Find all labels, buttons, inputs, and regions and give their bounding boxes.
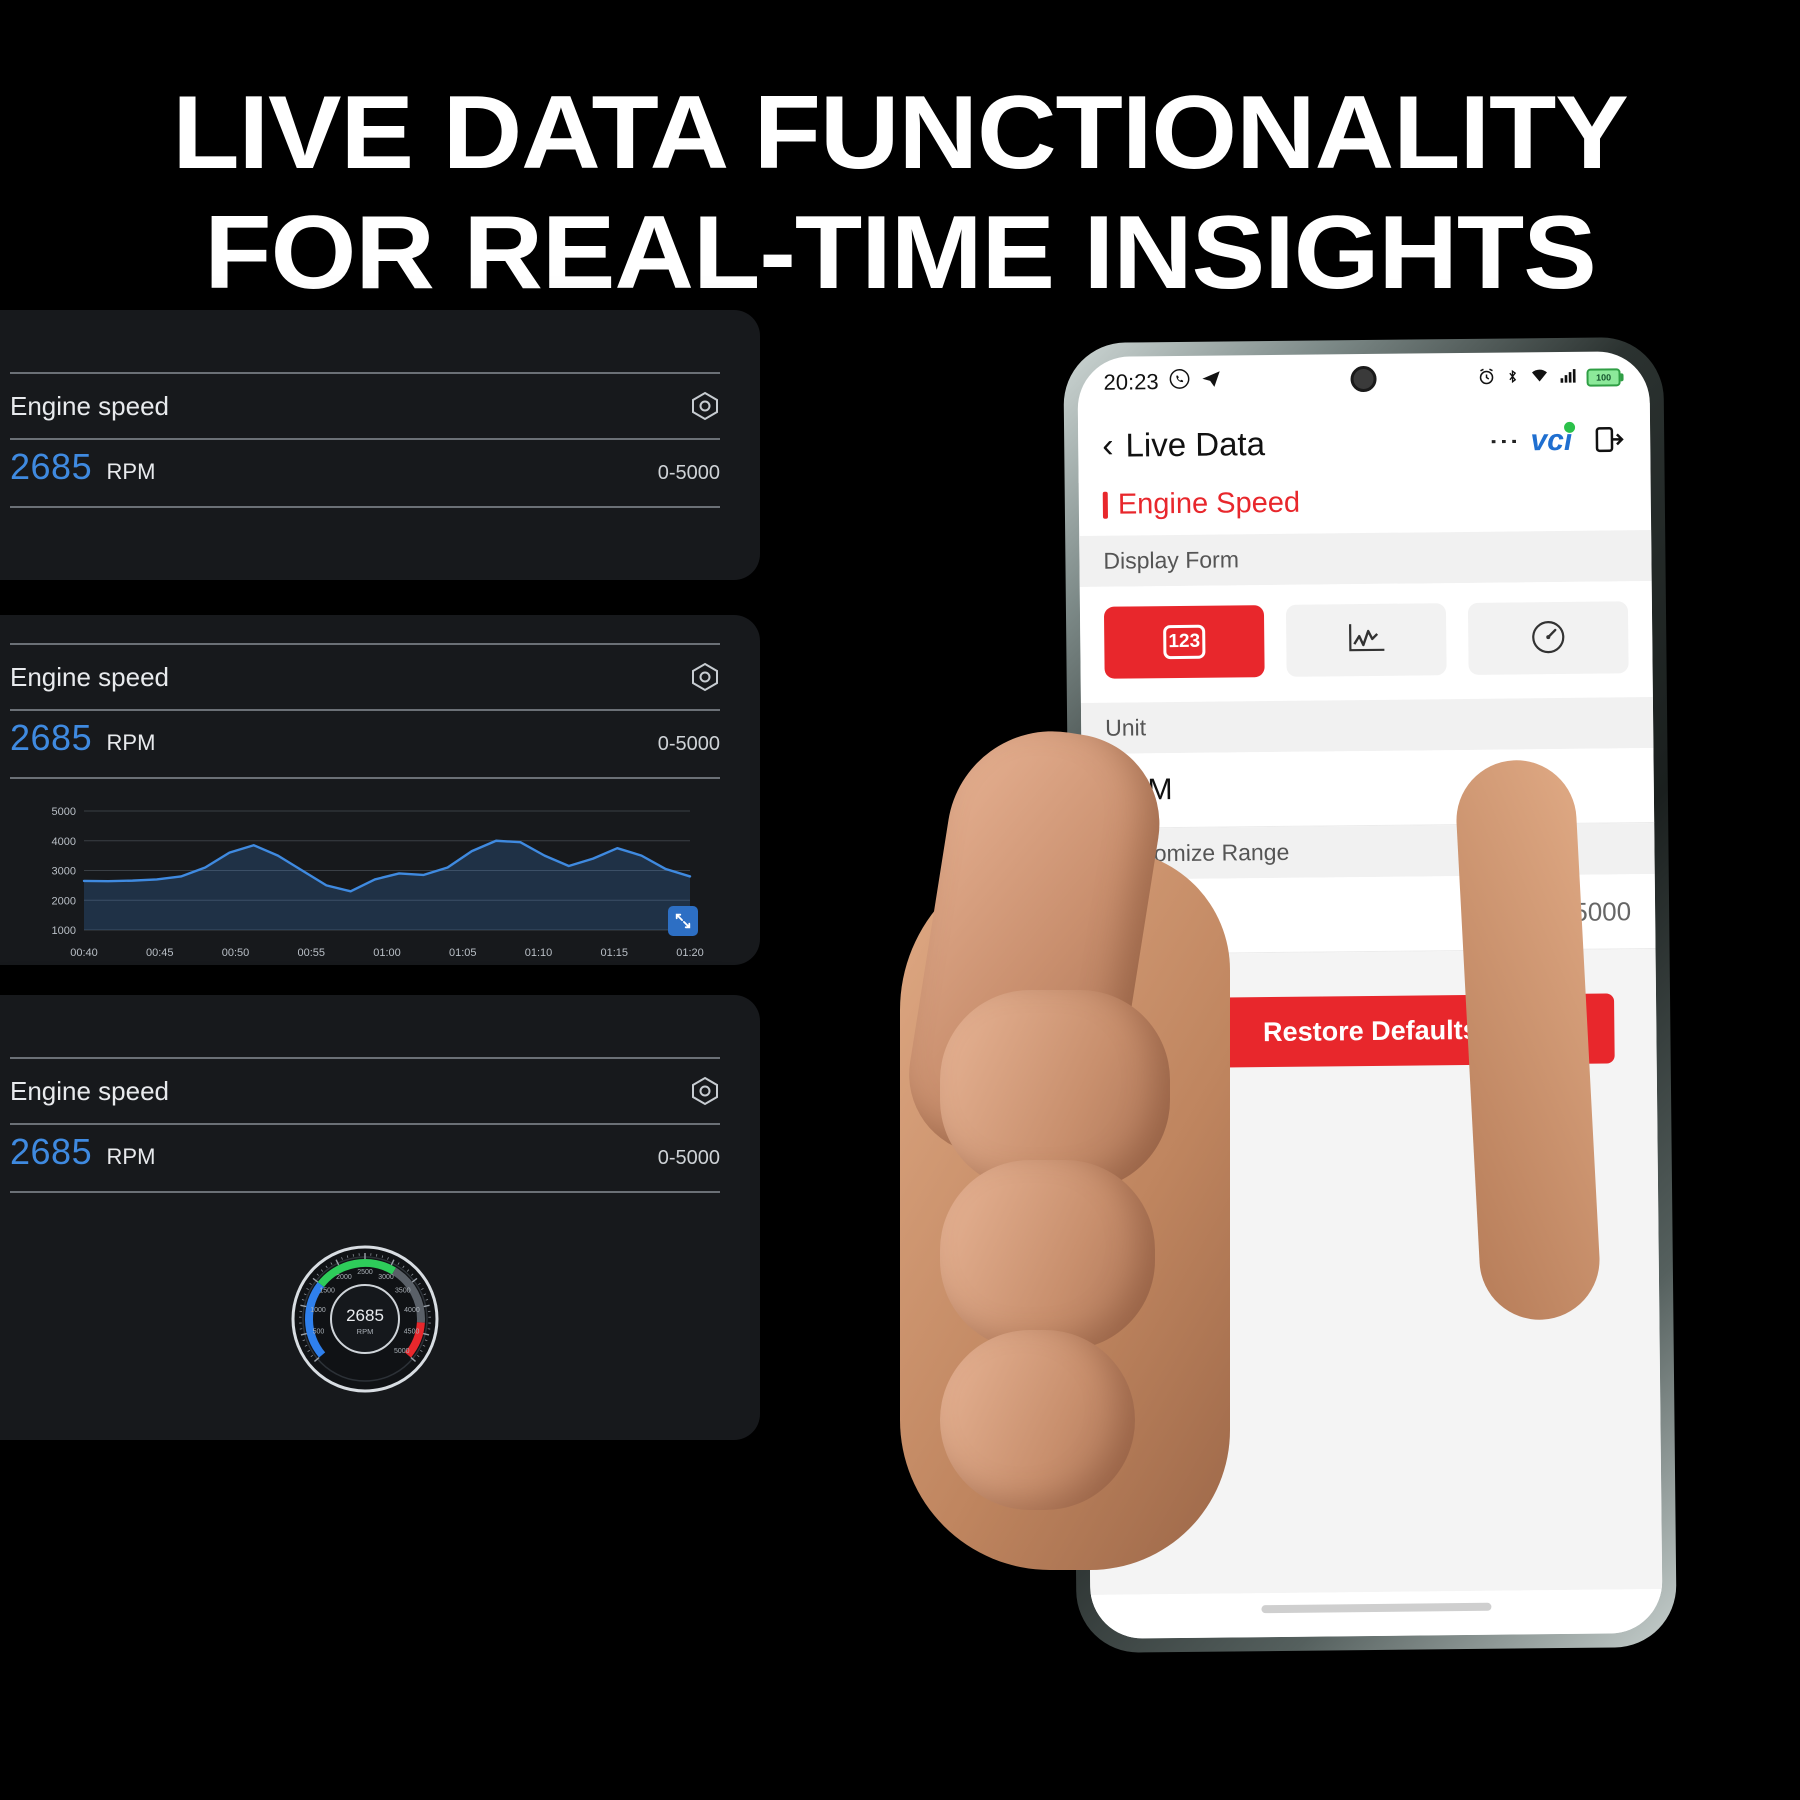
card-numeric-value-row: 2685 RPM 0-5000 [10, 440, 720, 508]
card-graph-unit: RPM [107, 730, 156, 755]
home-indicator [1090, 1589, 1662, 1639]
section-title: Engine Speed [1079, 477, 1652, 536]
svg-text:01:20: 01:20 [676, 947, 704, 959]
alarm-icon [1477, 366, 1495, 392]
gauge-svg: 5001000150020002500300035004000450050002… [265, 1219, 465, 1419]
svg-text:3000: 3000 [52, 866, 76, 878]
line-chart-svg: 5000400030002000100000:4000:4500:5000:55… [10, 801, 710, 966]
wifi-icon [1529, 365, 1549, 391]
svg-text:00:40: 00:40 [70, 947, 98, 959]
card-graph-title-row: Engine speed [10, 643, 720, 711]
card-graph: Engine speed 2685 RPM 0-5000 50004000300… [0, 615, 760, 965]
card-graph-label: Engine speed [10, 662, 169, 693]
live-line-chart[interactable]: 5000400030002000100000:4000:4500:5000:55… [10, 801, 720, 966]
card-gauge-label: Engine speed [10, 1076, 169, 1107]
card-gauge: Engine speed 2685 RPM 0-5000 50010001500… [0, 995, 760, 1440]
svg-text:5000: 5000 [52, 806, 76, 818]
gauge-widget[interactable]: 5001000150020002500300035004000450050002… [10, 1219, 720, 1419]
card-gauge-unit: RPM [107, 1144, 156, 1169]
card-numeric-label: Engine speed [10, 391, 169, 422]
svg-text:4500: 4500 [404, 1329, 420, 1336]
current-range-row[interactable]: Current 5000 [1083, 874, 1656, 955]
battery-level: 100 [1596, 372, 1611, 382]
exit-icon[interactable] [1592, 424, 1626, 456]
current-label: Current [1107, 899, 1207, 934]
telegram-icon [1200, 368, 1222, 396]
card-gauge-range: 0-5000 [658, 1147, 720, 1170]
target-icon[interactable] [690, 1076, 720, 1106]
phone-mockup: 20:23 [1063, 337, 1677, 1653]
svg-text:01:05: 01:05 [449, 947, 477, 959]
section-title-text: Engine Speed [1118, 487, 1301, 522]
whatsapp-icon [1168, 368, 1190, 396]
unit-header: Unit [1081, 697, 1654, 754]
display-form-gauge-button[interactable] [1468, 601, 1629, 675]
display-form-numeric-button[interactable]: 123 [1104, 605, 1265, 679]
card-gauge-value: 2685 [10, 1131, 92, 1172]
page-title: LIVE DATA FUNCTIONALITY FOR REAL-TIME IN… [0, 80, 1800, 306]
card-graph-value: 2685 [10, 717, 92, 758]
card-graph-value-row: 2685 RPM 0-5000 [10, 711, 720, 779]
promo-stage: LIVE DATA FUNCTIONALITY FOR REAL-TIME IN… [0, 0, 1800, 1800]
restore-defaults-button[interactable]: Restore Defaults [1126, 993, 1615, 1068]
target-icon[interactable] [690, 662, 720, 692]
battery-icon: 100 [1586, 368, 1623, 386]
numeric-123-icon: 123 [1163, 625, 1205, 659]
svg-text:3500: 3500 [395, 1287, 411, 1294]
svg-text:500: 500 [313, 1329, 325, 1336]
svg-text:2685: 2685 [346, 1306, 384, 1325]
expand-icon[interactable] [668, 906, 698, 936]
line-chart-icon [1344, 619, 1388, 660]
phone-screen: 20:23 [1077, 351, 1662, 1639]
svg-text:00:50: 00:50 [222, 947, 250, 959]
customize-range-header: Customize Range [1082, 823, 1655, 880]
status-time: 20:23 [1103, 369, 1158, 396]
target-icon[interactable] [690, 391, 720, 421]
status-bar: 20:23 [1077, 351, 1650, 409]
headline-line-1: LIVE DATA FUNCTIONALITY [0, 80, 1800, 186]
svg-text:1500: 1500 [319, 1287, 335, 1294]
camera-punch-hole [1350, 366, 1376, 392]
vci-label[interactable]: vci [1530, 424, 1572, 458]
svg-text:5000: 5000 [394, 1348, 410, 1355]
card-numeric-unit: RPM [107, 459, 156, 484]
card-numeric: Engine speed 2685 RPM 0-5000 [0, 310, 760, 580]
svg-text:RPM: RPM [357, 1327, 374, 1336]
svg-text:2500: 2500 [357, 1269, 373, 1276]
headline-line-2: FOR REAL-TIME INSIGHTS [0, 200, 1800, 306]
card-numeric-range: 0-5000 [658, 462, 720, 485]
svg-text:1000: 1000 [310, 1307, 326, 1314]
svg-text:1000: 1000 [52, 925, 76, 937]
card-gauge-title-row: Engine speed [10, 1057, 720, 1125]
bluetooth-icon [1504, 365, 1520, 391]
svg-text:4000: 4000 [52, 836, 76, 848]
svg-text:2000: 2000 [52, 895, 76, 907]
section-accent-bar [1103, 492, 1108, 519]
card-graph-range: 0-5000 [658, 733, 720, 756]
display-form-chart-button[interactable] [1286, 603, 1447, 677]
svg-text:00:45: 00:45 [146, 947, 174, 959]
chevron-left-icon[interactable]: ‹ [1102, 429, 1114, 463]
unit-row[interactable]: RPM [1081, 748, 1654, 829]
card-numeric-value: 2685 [10, 446, 92, 487]
display-form-options: 123 [1080, 581, 1653, 703]
more-vertical-icon[interactable]: ⋮ [1493, 426, 1514, 456]
signal-icon [1558, 365, 1577, 391]
svg-text:01:15: 01:15 [600, 947, 628, 959]
content-fill: Restore Defaults [1084, 949, 1663, 1595]
card-gauge-value-row: 2685 RPM 0-5000 [10, 1125, 720, 1193]
svg-text:4000: 4000 [404, 1307, 420, 1314]
display-form-header: Display Form [1079, 530, 1652, 587]
card-numeric-title-row: Engine speed [10, 372, 720, 440]
unit-value: RPM [1106, 773, 1173, 808]
gauge-icon [1527, 615, 1569, 660]
svg-text:01:00: 01:00 [373, 947, 401, 959]
app-title: Live Data [1125, 425, 1265, 464]
app-bar: ‹ Live Data ⋮ vci [1078, 403, 1651, 483]
svg-text:00:55: 00:55 [297, 947, 325, 959]
current-value: 5000 [1573, 896, 1631, 928]
svg-text:3000: 3000 [378, 1274, 394, 1281]
vci-status-dot [1564, 422, 1575, 433]
svg-text:01:10: 01:10 [525, 947, 553, 959]
svg-text:2000: 2000 [336, 1274, 352, 1281]
